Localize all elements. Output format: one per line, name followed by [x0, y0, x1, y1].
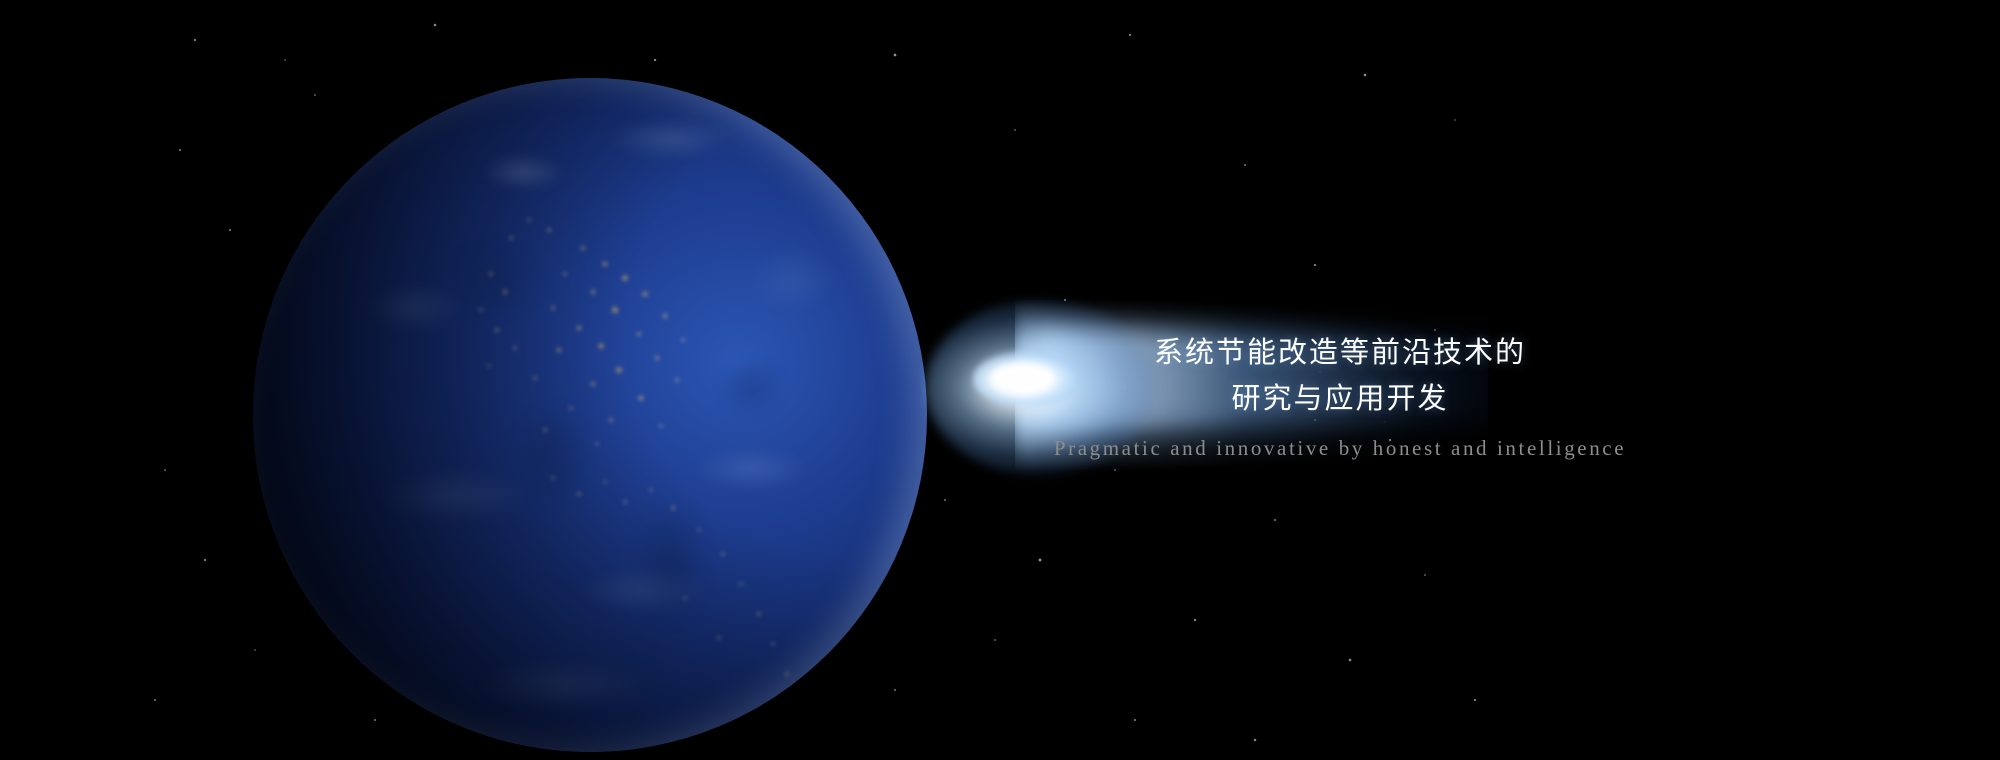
- headline-line-2: 研究与应用开发: [1040, 376, 1640, 422]
- headline-line-1: 系统节能改造等前沿技术的: [1040, 330, 1640, 376]
- subtitle-tagline: Pragmatic and innovative by honest and i…: [1040, 436, 1640, 461]
- banner-text-block: 系统节能改造等前沿技术的 研究与应用开发 Pragmatic and innov…: [1040, 330, 1640, 461]
- hero-banner: 系统节能改造等前沿技术的 研究与应用开发 Pragmatic and innov…: [0, 0, 2000, 760]
